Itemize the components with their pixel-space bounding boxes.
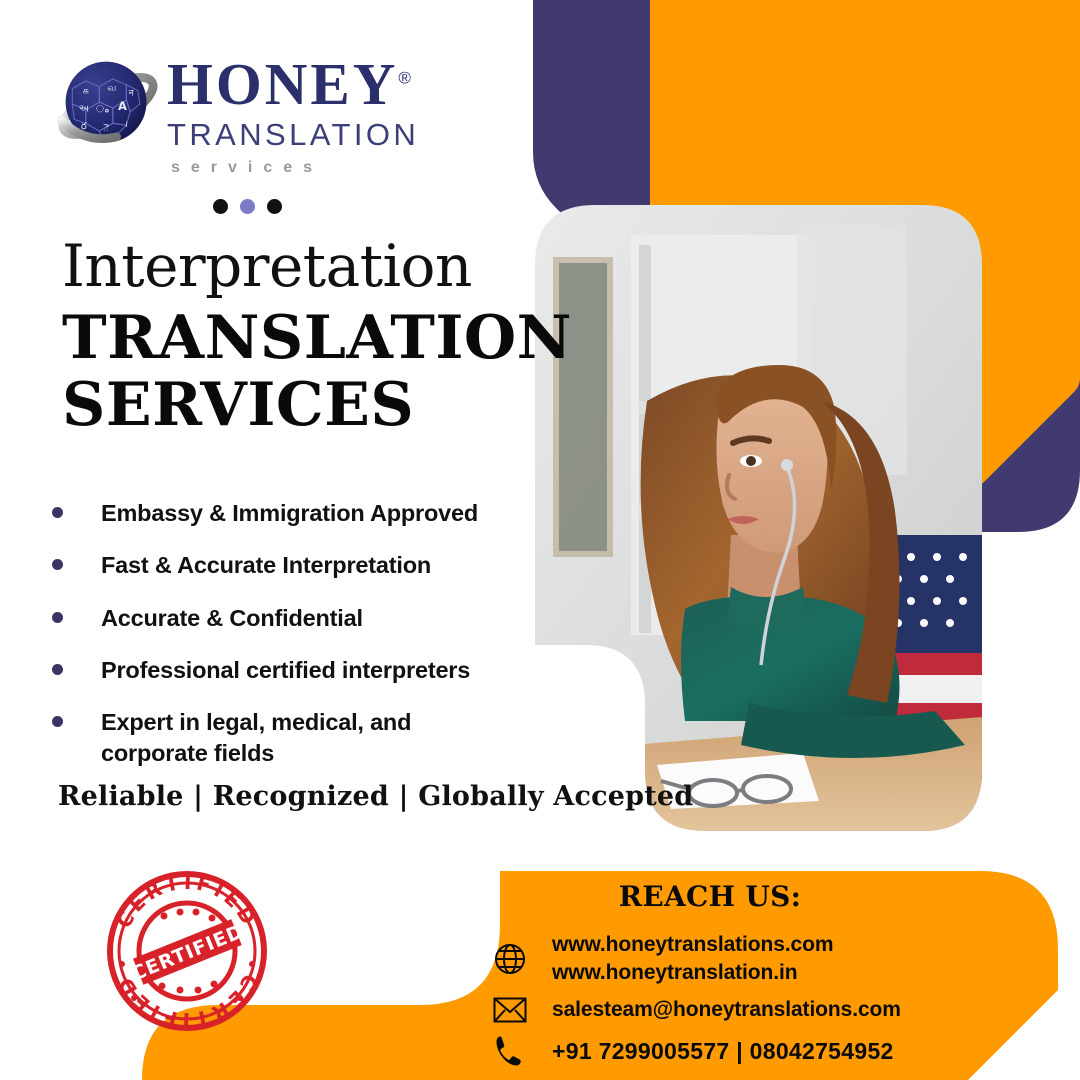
contact-row-phone[interactable]: +91 7299005577 | 08042754952 <box>490 1034 1050 1068</box>
headline-script-line: Interpretation <box>62 236 572 297</box>
logo-line-translation: TRANSLATION <box>167 117 419 153</box>
certified-stamp-icon: CERTIFIED CERTIFIED CERTIFIED <box>104 868 270 1034</box>
svg-text:ె: ె <box>103 123 109 134</box>
bullet-dot-icon <box>52 716 63 727</box>
website-urls[interactable]: www.honeytranslations.com www.honeytrans… <box>552 931 833 986</box>
feature-list: Embassy & Immigration Approved Fast & Ac… <box>52 498 522 791</box>
logo-line-services: services <box>167 159 419 177</box>
list-item-label: Fast & Accurate Interpretation <box>101 550 431 581</box>
envelope-icon <box>490 997 530 1023</box>
globe-icon <box>490 942 530 976</box>
contact-row-email[interactable]: salesteam@honeytranslations.com <box>490 996 1050 1024</box>
logo-dot-separator <box>55 199 475 214</box>
list-item: Professional certified interpreters <box>52 655 522 686</box>
list-item: Accurate & Confidential <box>52 603 522 634</box>
bullet-dot-icon <box>52 559 63 570</box>
page-title: Interpretation TRANSLATION SERVICES <box>62 236 572 439</box>
phone-icon <box>490 1034 530 1068</box>
dot-black-right <box>267 199 282 214</box>
contact-heading: REACH US: <box>520 880 900 913</box>
svg-text:ം: ം <box>96 104 109 116</box>
svg-text:અ: અ <box>79 104 90 115</box>
website-url-com[interactable]: www.honeytranslations.com <box>552 933 833 956</box>
svg-text:न: न <box>129 88 134 98</box>
bullet-dot-icon <box>52 664 63 675</box>
list-item: Fast & Accurate Interpretation <box>52 550 522 581</box>
registered-trademark-icon: ® <box>398 68 411 87</box>
list-item-label: Accurate & Confidential <box>101 603 363 634</box>
list-item-label: Professional certified interpreters <box>101 655 470 686</box>
list-item: Embassy & Immigration Approved <box>52 498 522 529</box>
svg-text:A: A <box>118 99 127 113</box>
svg-text:வ: வ <box>107 83 116 94</box>
svg-text:।: । <box>125 120 128 130</box>
headline-main-line-2: SERVICES <box>62 372 572 439</box>
tagline: Reliable | Recognized | Globally Accepte… <box>58 781 693 812</box>
dot-purple-middle <box>240 199 255 214</box>
email-address[interactable]: salesteam@honeytranslations.com <box>552 996 901 1024</box>
website-url-in[interactable]: www.honeytranslation.in <box>552 961 797 984</box>
list-item: Expert in legal, medical, and corporate … <box>52 707 522 770</box>
dot-black-left <box>213 199 228 214</box>
contact-block: REACH US: www.honeytranslations.com www.… <box>490 880 1050 1078</box>
globe-languages-icon: க வ न અ ം A ర ె । <box>55 52 161 158</box>
svg-text:க: க <box>83 85 89 96</box>
logo-wordmark: HONEY® TRANSLATION services <box>167 48 419 177</box>
bullet-dot-icon <box>52 612 63 623</box>
hero-photo <box>535 205 982 831</box>
logo-name: HONEY <box>167 51 398 117</box>
list-item-label: Embassy & Immigration Approved <box>101 498 478 529</box>
interpreter-woman-headset-photo <box>535 205 982 831</box>
contact-row-website[interactable]: www.honeytranslations.com www.honeytrans… <box>490 931 1050 986</box>
headline-main-line-1: TRANSLATION <box>62 305 572 372</box>
list-item-label: Expert in legal, medical, and corporate … <box>101 707 461 770</box>
phone-numbers[interactable]: +91 7299005577 | 08042754952 <box>552 1036 894 1066</box>
bullet-dot-icon <box>52 507 63 518</box>
brand-logo[interactable]: க வ न અ ം A ర ె । HONEY® TRANSLATION ser… <box>55 48 475 214</box>
